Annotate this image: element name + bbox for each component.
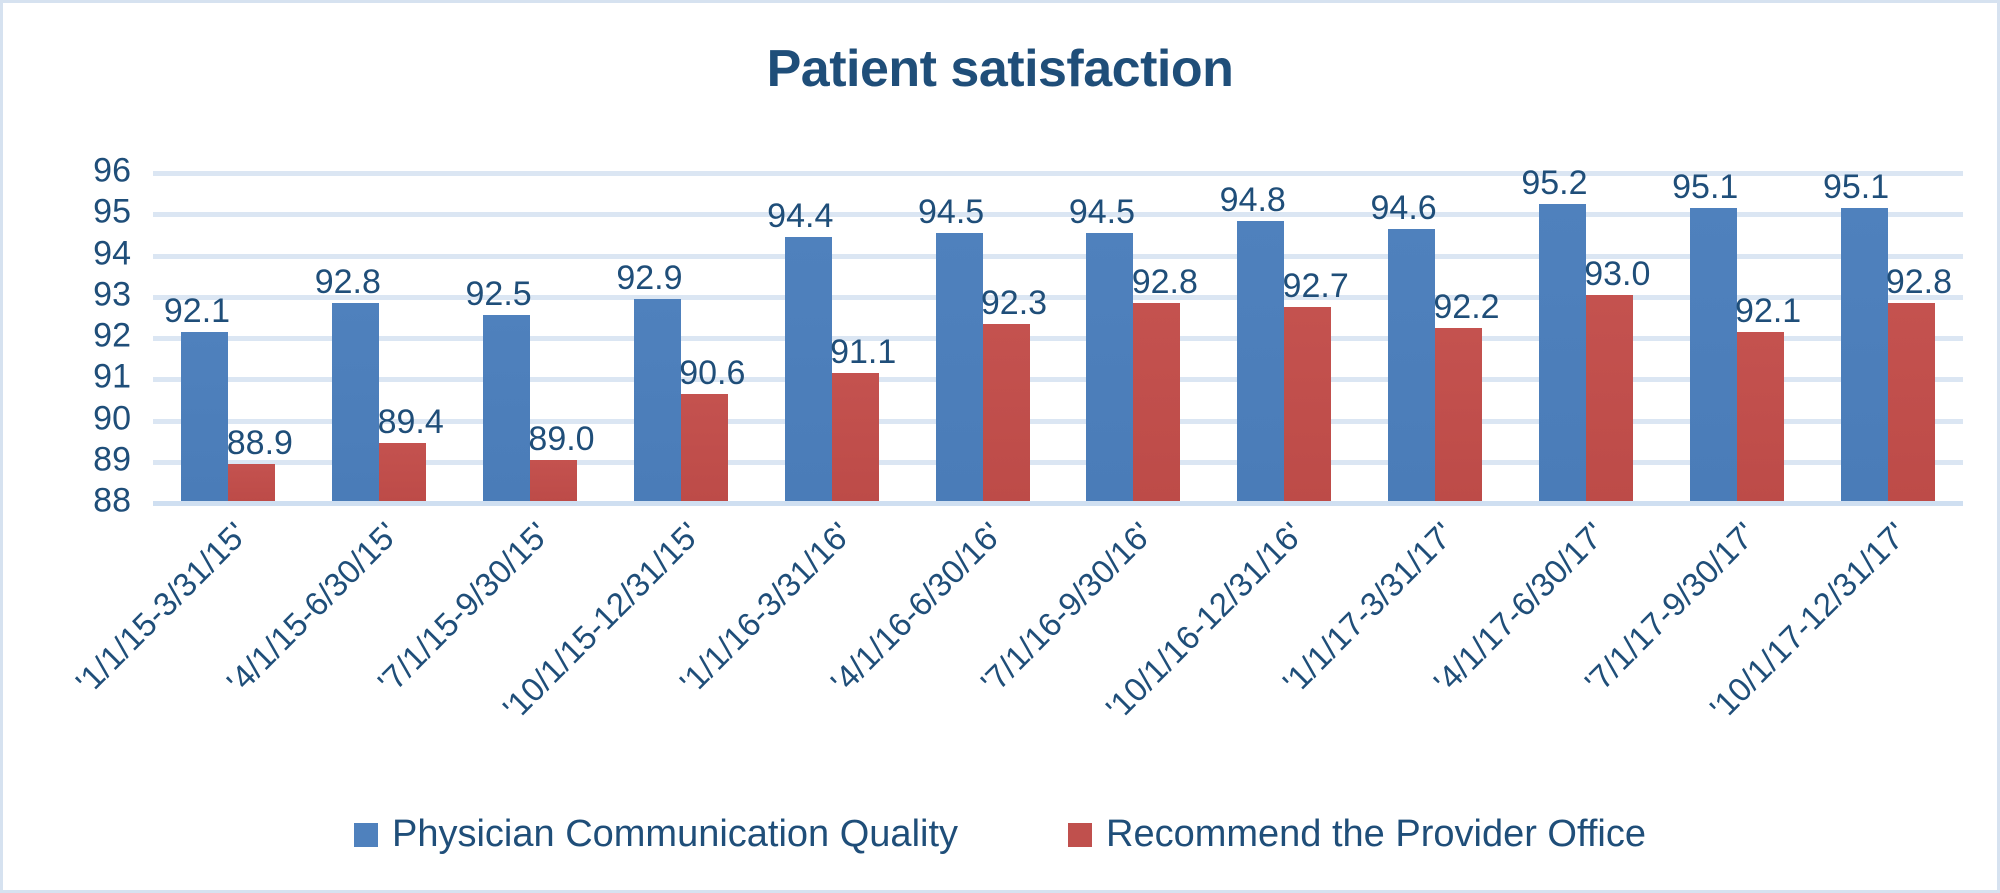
bar-slot: 92.7: [1284, 171, 1331, 501]
bar-slot: 92.1: [1737, 171, 1784, 501]
bar-value-label: 91.1: [830, 335, 896, 369]
bar-slot: 92.8: [332, 171, 379, 501]
chart-legend: Physician Communication Quality Recommen…: [3, 813, 1997, 856]
bar[interactable]: 89.4: [379, 443, 426, 501]
bar-value-label: 92.9: [616, 261, 682, 295]
bar[interactable]: 90.6: [681, 394, 728, 501]
bar-value-label: 92.2: [1433, 290, 1499, 324]
bar-value-label: 95.1: [1823, 170, 1889, 204]
bar-value-label: 94.8: [1220, 183, 1286, 217]
bar-value-label: 92.3: [981, 286, 1047, 320]
plot-area: 969594939291908988 92.188.992.889.492.58…: [153, 171, 1963, 501]
bar[interactable]: 95.1: [1841, 208, 1888, 501]
bar-slot: 94.5: [936, 171, 983, 501]
bar-slot: 90.6: [681, 171, 728, 501]
bar-groups: 92.188.992.889.492.589.092.990.694.491.1…: [153, 171, 1963, 501]
bar-value-label: 95.2: [1521, 166, 1587, 200]
bar-slot: 88.9: [228, 171, 275, 501]
bar-value-label: 92.1: [1735, 294, 1801, 328]
bar-slot: 94.6: [1388, 171, 1435, 501]
bar-value-label: 92.1: [164, 294, 230, 328]
bar-group: 92.589.0: [455, 171, 606, 501]
legend-label: Recommend the Provider Office: [1106, 813, 1646, 856]
bar-slot: 89.4: [379, 171, 426, 501]
bar[interactable]: 92.7: [1284, 307, 1331, 501]
bar-value-label: 90.6: [679, 356, 745, 390]
bar-group: 94.592.3: [907, 171, 1058, 501]
bar[interactable]: 93.0: [1586, 295, 1633, 501]
bar-value-label: 95.1: [1672, 170, 1738, 204]
bar-group: 95.192.8: [1812, 171, 1963, 501]
x-axis-labels: '1/1/15-3/31/15''4/1/15-6/30/15''7/1/15-…: [153, 503, 1963, 773]
bar-value-label: 94.4: [767, 199, 833, 233]
page-title: Patient satisfaction: [3, 39, 1997, 99]
bar[interactable]: 92.8: [332, 303, 379, 501]
bar-slot: 89.0: [530, 171, 577, 501]
bar-slot: 91.1: [832, 171, 879, 501]
bar-slot: 92.8: [1888, 171, 1935, 501]
y-axis-tick-label: 96: [41, 152, 131, 191]
bar-group: 94.592.8: [1058, 171, 1209, 501]
bar-slot: 95.2: [1539, 171, 1586, 501]
bar[interactable]: 94.5: [936, 233, 983, 501]
y-axis-tick-label: 93: [41, 275, 131, 314]
bar[interactable]: 92.9: [634, 299, 681, 501]
bar-group: 94.491.1: [756, 171, 907, 501]
bar-slot: 94.4: [785, 171, 832, 501]
blue-square-marker-icon: [354, 823, 378, 847]
bar[interactable]: 95.1: [1690, 208, 1737, 501]
bar[interactable]: 92.2: [1435, 328, 1482, 501]
bar-group: 92.990.6: [605, 171, 756, 501]
bar-group: 92.188.9: [153, 171, 304, 501]
bar-slot: 92.2: [1435, 171, 1482, 501]
bar[interactable]: 89.0: [530, 460, 577, 501]
bar-slot: 94.8: [1237, 171, 1284, 501]
legend-label: Physician Communication Quality: [392, 813, 958, 856]
bar[interactable]: 95.2: [1539, 204, 1586, 501]
bar-slot: 93.0: [1586, 171, 1633, 501]
bar[interactable]: 92.1: [181, 332, 228, 501]
bar[interactable]: 92.8: [1888, 303, 1935, 501]
y-axis-tick-label: 88: [41, 482, 131, 521]
bar-slot: 94.5: [1086, 171, 1133, 501]
bar[interactable]: 92.8: [1133, 303, 1180, 501]
bar-slot: 92.9: [634, 171, 681, 501]
bar-slot: 95.1: [1841, 171, 1888, 501]
bar[interactable]: 92.3: [983, 324, 1030, 501]
bar-slot: 92.1: [181, 171, 228, 501]
bar-group: 95.293.0: [1510, 171, 1661, 501]
bar-value-label: 89.4: [378, 405, 444, 439]
y-axis-tick-label: 94: [41, 234, 131, 273]
bar-value-label: 88.9: [227, 426, 293, 460]
legend-item-physician-communication-quality[interactable]: Physician Communication Quality: [354, 813, 958, 856]
bar-group: 94.892.7: [1209, 171, 1360, 501]
legend-item-recommend-the-provider-office[interactable]: Recommend the Provider Office: [1068, 813, 1646, 856]
y-axis-tick-label: 91: [41, 358, 131, 397]
chart-container: Patient satisfaction 969594939291908988 …: [0, 0, 2000, 893]
y-axis-tick-label: 95: [41, 193, 131, 232]
bar-value-label: 94.6: [1370, 191, 1436, 225]
bar[interactable]: 92.1: [1737, 332, 1784, 501]
bar-group: 95.192.1: [1661, 171, 1812, 501]
bar[interactable]: 88.9: [228, 464, 275, 501]
red-square-marker-icon: [1068, 823, 1092, 847]
bar[interactable]: 94.5: [1086, 233, 1133, 501]
bar-slot: 95.1: [1690, 171, 1737, 501]
bar-value-label: 89.0: [528, 422, 594, 456]
bar-value-label: 92.8: [315, 265, 381, 299]
x-axis-label-cell: '10/1/17-12/31/17': [1812, 503, 1963, 773]
y-axis-tick-label: 89: [41, 440, 131, 479]
bar[interactable]: 94.6: [1388, 229, 1435, 501]
y-axis-tick-label: 90: [41, 399, 131, 438]
bar-group: 94.692.2: [1360, 171, 1511, 501]
bar-value-label: 94.5: [1069, 195, 1135, 229]
bar[interactable]: 94.4: [785, 237, 832, 501]
bar-value-label: 92.8: [1886, 265, 1952, 299]
bar-slot: 92.3: [983, 171, 1030, 501]
bar-group: 92.889.4: [304, 171, 455, 501]
bar-slot: 92.8: [1133, 171, 1180, 501]
bar-value-label: 94.5: [918, 195, 984, 229]
bar-slot: 92.5: [483, 171, 530, 501]
bar[interactable]: 94.8: [1237, 221, 1284, 502]
bar-value-label: 92.7: [1283, 269, 1349, 303]
bar-value-label: 93.0: [1584, 257, 1650, 291]
y-axis-tick-label: 92: [41, 317, 131, 356]
bar-value-label: 92.5: [466, 277, 532, 311]
bar[interactable]: 92.5: [483, 315, 530, 501]
bar-value-label: 92.8: [1132, 265, 1198, 299]
bar[interactable]: 91.1: [832, 373, 879, 501]
